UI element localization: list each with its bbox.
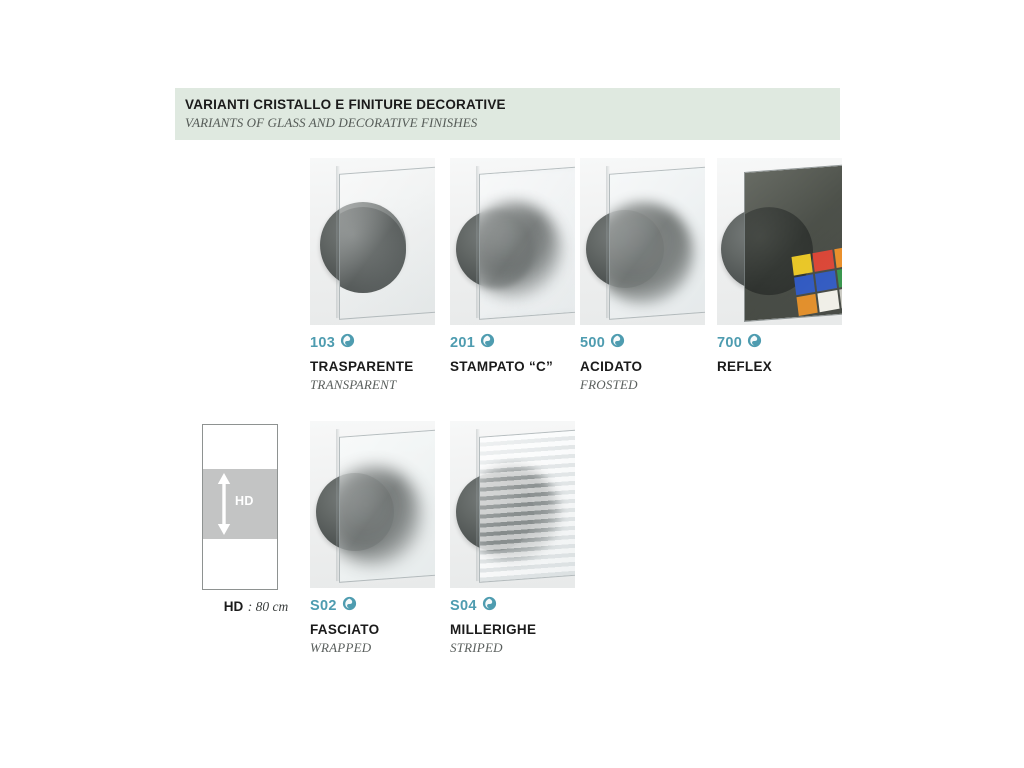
fluted-stripe-pattern bbox=[480, 430, 575, 581]
page-subtitle: VARIANTS OF GLASS AND DECORATIVE FINISHE… bbox=[185, 114, 840, 132]
swatch-caption: S02 FASCIATO WRAPPED bbox=[310, 597, 435, 656]
glass-pane-transparent bbox=[339, 166, 435, 320]
swatch-circle-icon bbox=[342, 596, 357, 616]
glass-pane-fasciato bbox=[339, 429, 435, 583]
swatch-photo-reflex bbox=[717, 158, 842, 325]
swatch-card-500[interactable]: 500 ACIDATO FROSTED bbox=[580, 158, 705, 393]
glass-pane-reflex bbox=[744, 164, 842, 322]
hd-caption: HD : 80 cm bbox=[196, 598, 316, 616]
glass-pane-stampato bbox=[479, 166, 575, 320]
swatch-code-line: S02 bbox=[310, 597, 435, 615]
sphere-diffused-through-glass bbox=[479, 202, 562, 298]
swatch-code: 700 bbox=[717, 334, 742, 352]
swatch-caption: 500 ACIDATO FROSTED bbox=[580, 334, 705, 393]
color-cell-orange bbox=[797, 294, 818, 316]
swatch-code: 201 bbox=[450, 334, 475, 352]
swatch-code: 500 bbox=[580, 334, 605, 352]
swatch-code-line: 700 bbox=[717, 334, 842, 352]
swatch-circle-icon bbox=[480, 333, 495, 353]
swatch-name-en: FROSTED bbox=[580, 376, 705, 393]
pane-surface bbox=[745, 165, 842, 321]
glass-pane-acidato bbox=[609, 166, 705, 320]
color-cell-orange bbox=[834, 246, 842, 268]
swatch-name-it: REFLEX bbox=[717, 357, 842, 376]
hd-caption-label: HD bbox=[224, 599, 244, 614]
color-cell-white bbox=[818, 290, 839, 312]
swatch-card-S02[interactable]: S02 FASCIATO WRAPPED bbox=[310, 421, 435, 656]
swatch-name-it: STAMPATO “C” bbox=[450, 357, 575, 376]
sphere-diffused-through-glass bbox=[339, 467, 422, 565]
page-title: VARIANTI CRISTALLO E FINITURE DECORATIVE bbox=[185, 96, 840, 113]
swatch-circle-icon bbox=[340, 333, 355, 353]
swatch-code-line: 103 bbox=[310, 334, 435, 352]
swatch-caption: S04 MILLERIGHE STRIPED bbox=[450, 597, 575, 656]
sphere-seen-through-glass bbox=[339, 207, 406, 293]
swatch-photo-millerighe bbox=[450, 421, 575, 588]
color-cell-yellow bbox=[792, 254, 813, 276]
swatch-card-103[interactable]: 103 TRASPARENTE TRANSPARENT bbox=[310, 158, 435, 393]
swatch-code: 103 bbox=[310, 334, 335, 352]
hd-band-label: HD bbox=[235, 494, 254, 508]
glass-pane-millerighe bbox=[479, 429, 575, 583]
swatch-code-line: 201 bbox=[450, 334, 575, 352]
color-swatch-grid bbox=[792, 246, 842, 316]
pane-surface bbox=[340, 430, 435, 581]
swatch-circle-icon bbox=[482, 596, 497, 616]
swatch-photo-stampato bbox=[450, 158, 575, 325]
swatch-circle-icon bbox=[610, 333, 625, 353]
swatch-name-it: FASCIATO bbox=[310, 620, 435, 639]
sphere-diffused-through-glass bbox=[609, 202, 694, 304]
pane-surface bbox=[480, 430, 575, 581]
swatch-card-S04[interactable]: S04 MILLERIGHE STRIPED bbox=[450, 421, 575, 656]
swatch-caption: 201 STAMPATO “C” bbox=[450, 334, 575, 376]
hd-caption-value: : 80 cm bbox=[248, 599, 289, 614]
swatch-code: S02 bbox=[310, 597, 337, 615]
hd-height-diagram: HD bbox=[202, 424, 278, 590]
swatch-name-it: ACIDATO bbox=[580, 357, 705, 376]
color-cell-blue bbox=[815, 270, 837, 292]
swatch-name-en: WRAPPED bbox=[310, 639, 435, 656]
swatch-name-it: TRASPARENTE bbox=[310, 357, 435, 376]
swatch-caption: 103 TRASPARENTE TRANSPARENT bbox=[310, 334, 435, 393]
swatch-circle-icon bbox=[747, 333, 762, 353]
swatch-photo-transparent bbox=[310, 158, 435, 325]
swatch-photo-fasciato bbox=[310, 421, 435, 588]
pane-surface bbox=[610, 167, 705, 318]
pane-surface bbox=[340, 167, 435, 318]
color-cell-grey bbox=[839, 287, 842, 309]
swatch-name-en: STRIPED bbox=[450, 639, 575, 656]
swatch-code: S04 bbox=[450, 597, 477, 615]
swatch-name-en: TRANSPARENT bbox=[310, 376, 435, 393]
color-cell-green bbox=[836, 266, 842, 288]
hd-double-arrow-icon bbox=[217, 473, 231, 535]
swatch-name-it: MILLERIGHE bbox=[450, 620, 575, 639]
swatch-code-line: S04 bbox=[450, 597, 575, 615]
swatch-photo-acidato bbox=[580, 158, 705, 325]
swatch-card-700[interactable]: 700 REFLEX bbox=[717, 158, 842, 376]
color-cell-red bbox=[813, 250, 834, 272]
swatch-card-201[interactable]: 201 STAMPATO “C” bbox=[450, 158, 575, 376]
swatch-caption: 700 REFLEX bbox=[717, 334, 842, 376]
color-cell-blue bbox=[794, 274, 816, 296]
pane-surface bbox=[480, 167, 575, 318]
swatch-code-line: 500 bbox=[580, 334, 705, 352]
section-header-band: VARIANTI CRISTALLO E FINITURE DECORATIVE… bbox=[175, 88, 840, 140]
